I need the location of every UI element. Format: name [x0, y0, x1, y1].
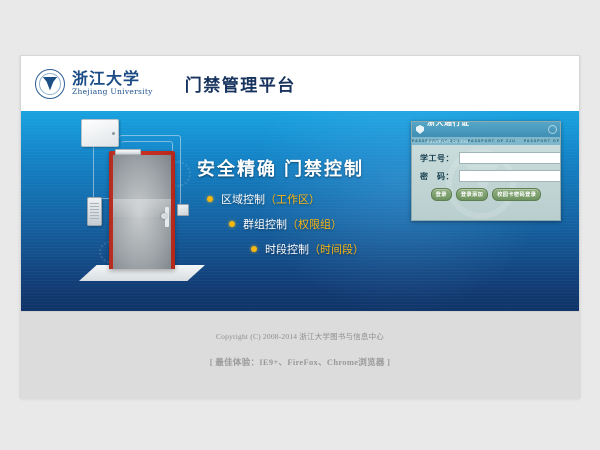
login-panel-title-cn: 浙大通行证 [427, 121, 470, 127]
panel-emblem-icon [548, 125, 557, 134]
feature-list: 区域控制 （工作区） 群组控制 （权限组） 时段控制 （时间段） [207, 191, 364, 266]
feature-paren: （权限组） [287, 216, 342, 232]
door-panel [113, 155, 171, 269]
username-field[interactable] [459, 152, 561, 164]
exit-button-icon [177, 204, 189, 216]
password-row: 密 码： [420, 170, 552, 182]
watermark-text: PASSPORT OF ZJU [468, 139, 524, 143]
password-field[interactable] [459, 170, 561, 182]
page-title: 门禁管理平台 [185, 71, 296, 96]
login-button-row: 登录 登录添加 校园卡密码登录 [420, 188, 552, 201]
feature-item-group-control: 群组控制 （权限组） [229, 216, 364, 232]
card-reader-icon [87, 197, 102, 226]
bullet-dot-icon [229, 221, 235, 227]
access-control-door-illustration [47, 113, 207, 303]
controller-box-icon [81, 119, 119, 147]
zju-seal-icon [35, 69, 65, 99]
login-panel: 浙大通行证 PASSPORT OF ZJU PASSPORT OF ZJU PA… [411, 121, 561, 221]
door-frame [109, 151, 175, 269]
watermark-text: PASSPORT OF ZJU [524, 139, 560, 143]
feature-item-time-control: 时段控制 （时间段） [251, 241, 364, 257]
feature-label: 时段控制 [265, 241, 309, 257]
copyright-text: Copyright (C) 2008-2014 浙江大学图书与信息中心 [216, 331, 384, 342]
browser-compatibility-note: [ 最佳体验：IE9+、FireFox、Chrome浏览器 ] [210, 356, 391, 368]
site-header: 浙江大学 Zhejiang University 门禁管理平台 [21, 56, 579, 111]
username-row: 学工号： [420, 152, 552, 164]
feature-label: 群组控制 [243, 216, 287, 232]
login-panel-title-en: PASSPORT OF ZJU [427, 140, 469, 144]
page-card: 浙江大学 Zhejiang University 门禁管理平台 [20, 55, 580, 398]
login-add-button[interactable]: 登录添加 [456, 188, 488, 201]
logo-text-cn: 浙江大学 [72, 71, 153, 88]
login-button[interactable]: 登录 [431, 188, 452, 201]
bullet-dot-icon [251, 246, 257, 252]
feature-item-area-control: 区域控制 （工作区） [207, 191, 364, 207]
hero-banner: 安全精确 门禁控制 区域控制 （工作区） 群组控制 （权限组） 时段控制 （时间… [21, 111, 579, 311]
shield-icon [416, 125, 424, 134]
university-logo[interactable]: 浙江大学 Zhejiang University [35, 69, 153, 99]
logo-text-en: Zhejiang University [72, 88, 153, 96]
banner-headline: 安全精确 门禁控制 [197, 155, 364, 181]
feature-paren: （时间段） [309, 241, 364, 257]
password-label: 密 码： [420, 171, 454, 182]
feature-label: 区域控制 [221, 191, 265, 207]
site-footer: Copyright (C) 2008-2014 浙江大学图书与信息中心 [ 最佳… [21, 311, 579, 399]
username-label: 学工号： [420, 153, 454, 164]
login-panel-header: 浙大通行证 PASSPORT OF ZJU [412, 122, 560, 137]
bullet-dot-icon [207, 196, 213, 202]
door-handle-icon [161, 213, 167, 219]
campus-card-login-button[interactable]: 校园卡密码登录 [492, 188, 541, 201]
feature-paren: （工作区） [265, 191, 320, 207]
login-form: 学工号： 密 码： 登录 登录添加 校园卡密码登录 [412, 145, 560, 201]
